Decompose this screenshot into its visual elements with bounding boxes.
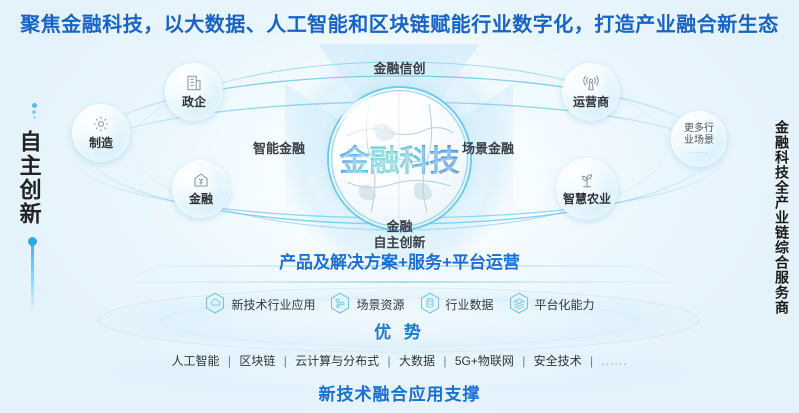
- capability-label: 新技术行业应用: [231, 296, 315, 313]
- node-government-enterprise[interactable]: 政企: [165, 63, 223, 121]
- antenna-icon: [582, 74, 600, 92]
- separator: |: [443, 354, 446, 368]
- capability-item-new-tech[interactable]: 新技术行业应用: [204, 292, 315, 316]
- technology-heading: 新技术融合应用支撑: [0, 380, 799, 405]
- tech-item: 5G+物联网: [455, 354, 514, 368]
- separator: |: [388, 354, 391, 368]
- network-hex-icon: [329, 292, 351, 316]
- node-label: 运营商: [573, 93, 609, 110]
- capability-item-industry-data[interactable]: 行业数据: [419, 292, 494, 316]
- quadrant-label-right: 场景金融: [462, 138, 514, 157]
- separator: |: [284, 354, 287, 368]
- capability-label: 平台化能力: [535, 296, 595, 313]
- core-label: 金融科技: [329, 136, 470, 180]
- node-smart-agriculture[interactable]: 智慧农业: [556, 158, 618, 220]
- tech-item: 云计算与分布式: [295, 354, 379, 368]
- capability-label: 行业数据: [446, 296, 494, 313]
- node-label: 金融: [189, 190, 213, 207]
- node-label: 政企: [182, 93, 206, 110]
- node-label-line1: 更多行: [684, 123, 714, 135]
- node-label-line2: 业场景: [684, 135, 714, 147]
- node-telecom-operator[interactable]: 运营商: [562, 63, 620, 121]
- quadrant-label-left: 智能金融: [253, 138, 305, 157]
- capability-item-scene-resource[interactable]: 场景资源: [329, 292, 404, 316]
- node-more-industries[interactable]: 更多行 业场景 ......: [671, 111, 727, 167]
- tech-item: 区块链: [239, 354, 275, 368]
- cloud-hex-icon: [204, 292, 226, 316]
- node-finance[interactable]: 金融: [172, 160, 230, 218]
- quadrant-label-bottom-line1: 金融: [0, 219, 799, 235]
- quadrant-label-bottom: 金融 自主创新: [0, 219, 799, 252]
- bank-icon: [192, 171, 210, 189]
- tech-item: 大数据: [399, 354, 435, 368]
- tech-ellipsis: ......: [601, 354, 627, 368]
- infographic-canvas: 聚焦金融科技，以大数据、人工智能和区块链赋能行业数字化，打造产业融合新生态 自主…: [0, 0, 799, 413]
- advantage-heading: 优 势: [0, 318, 799, 343]
- tech-item: 安全技术: [534, 354, 582, 368]
- central-globe: 金融科技: [329, 88, 470, 229]
- gear-icon: [92, 115, 110, 133]
- separator: |: [522, 354, 525, 368]
- node-ellipsis: ......: [690, 148, 708, 155]
- database-hex-icon: [419, 292, 441, 316]
- capability-item-platform[interactable]: 平台化能力: [508, 292, 595, 316]
- product-headline: 产品及解决方案+服务+平台运营: [0, 248, 799, 273]
- layers-hex-icon: [508, 292, 530, 316]
- node-label: 智慧农业: [563, 190, 611, 207]
- quadrant-label-top: 金融信创: [0, 58, 799, 77]
- plant-icon: [578, 171, 596, 189]
- technology-list: 人工智能 | 区块链 | 云计算与分布式 | 大数据 | 5G+物联网 | 安全…: [0, 352, 799, 369]
- separator: |: [590, 354, 593, 368]
- tech-item: 人工智能: [172, 354, 220, 368]
- node-manufacturing[interactable]: 制造: [72, 104, 130, 162]
- capability-label: 场景资源: [356, 296, 404, 313]
- node-label: 制造: [89, 134, 113, 151]
- separator: |: [228, 354, 231, 368]
- capability-row: 新技术行业应用 场景资源: [0, 292, 799, 316]
- building-icon: [185, 74, 203, 92]
